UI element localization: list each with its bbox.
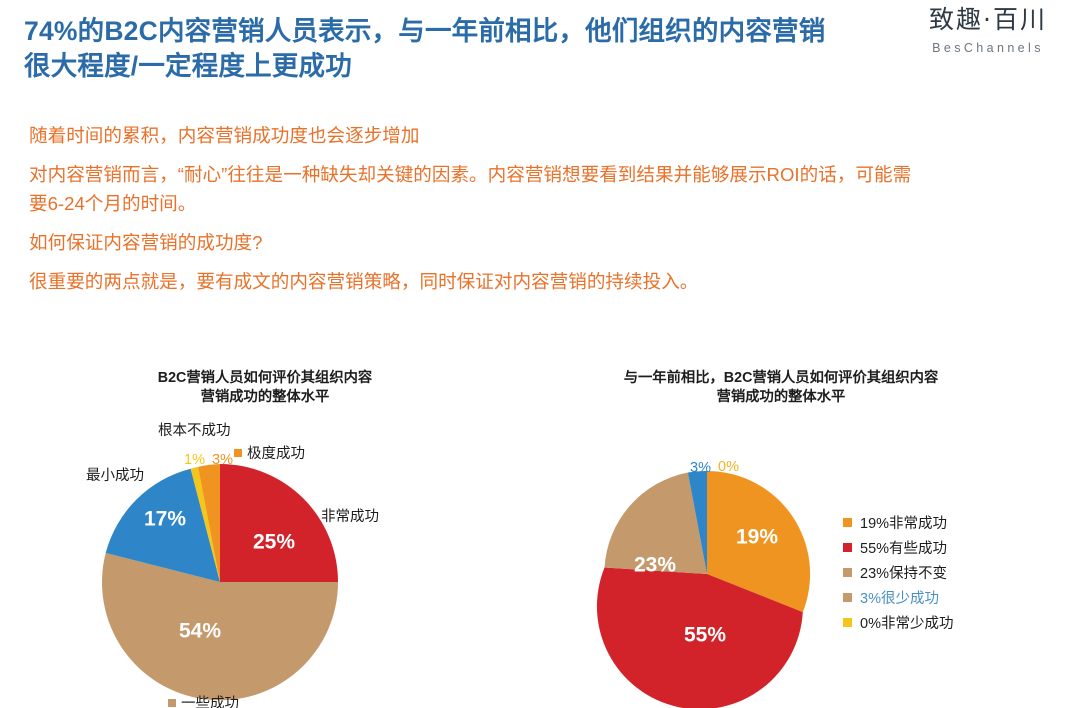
legend-swatch-stayed-same [843,568,852,577]
left-pie-small-value-1: 1% [184,452,205,468]
left-chart-title: B2C营销人员如何评价其组织内容 营销成功的整体水平 [92,369,438,408]
page-title: 74%的B2C内容营销人员表示，与一年前相比，他们组织的内容营销 很大程度/一定… [24,14,924,84]
legend-item-stayed-same[interactable]: 23%保持不变 [843,560,953,585]
legend-label-stayed-same: 23%保持不变 [860,562,947,583]
body-paragraph-2: 对内容营销而言，“耐心”往往是一种缺失却关键的因素。内容营销想要看到结果并能够展… [29,161,929,218]
brand-logo: 致趣·百川 BesChannels [904,6,1072,55]
legend-label-less-successful: 3%很少成功 [860,587,939,608]
left-pie-value-very-successful: 25% [253,531,295,554]
right-pie-small-value-2: 0% [718,459,739,475]
right-pie-value-stayed-same: 23% [634,554,676,577]
right-pie-chart: 19% 55% 23% [597,466,827,692]
body-paragraph-1: 随着时间的累积，内容营销成功度也会逐步增加 [29,122,929,150]
legend-swatch-very-successful [843,518,852,527]
left-pie-svg: 25% 54% 17% [80,462,370,708]
legend-label-somewhat-successful: 55%有些成功 [860,537,947,558]
page-title-line-2: 很大程度/一定程度上更成功 [24,49,924,84]
right-chart-title-line-1: 与一年前相比，B2C营销人员如何评价其组织内容 [566,369,996,388]
page-title-line-1: 74%的B2C内容营销人员表示，与一年前相比，他们组织的内容营销 [24,14,924,49]
legend-item-somewhat-successful[interactable]: 55%有些成功 [843,535,953,560]
left-pie-label-extremely-successful-text: 极度成功 [247,446,305,462]
left-pie-label-not-at-all-successful: 根本不成功 [158,419,231,440]
legend-swatch-much-less-successful [843,618,852,627]
brand-logo-en: BesChannels [904,41,1072,55]
body-paragraph-3: 如何保证内容营销的成功度? [29,229,929,257]
brand-logo-cn: 致趣·百川 [904,6,1072,34]
right-pie-value-very-successful: 19% [736,526,778,549]
right-chart-title-line-2: 营销成功的整体水平 [566,388,996,407]
left-chart-title-line-2: 营销成功的整体水平 [92,388,438,407]
legend-item-much-less-successful[interactable]: 0%非常少成功 [843,610,953,635]
left-chart-title-line-1: B2C营销人员如何评价其组织内容 [92,369,438,388]
left-pie-small-value-2: 3% [212,452,233,468]
left-pie-value-somewhat-successful: 54% [179,620,221,643]
slide-root: 74%的B2C内容营销人员表示，与一年前相比，他们组织的内容营销 很大程度/一定… [0,0,1080,708]
legend-item-less-successful[interactable]: 3%很少成功 [843,585,953,610]
right-pie-small-value-1: 3% [690,460,711,476]
legend-swatch-somewhat-successful [843,543,852,552]
left-legend-swatch-somewhat-successful [168,699,176,707]
legend-item-very-successful[interactable]: 19%非常成功 [843,510,953,535]
legend-label-very-successful: 19%非常成功 [860,512,947,533]
left-legend-swatch-extremely-successful [234,449,242,457]
left-pie-label-extremely-successful: 极度成功 [234,442,305,463]
right-pie-value-somewhat-successful: 55% [684,624,726,647]
body-copy: 随着时间的累积，内容营销成功度也会逐步增加 对内容营销而言，“耐心”往往是一种缺… [29,122,929,307]
left-pie-value-minimally-successful: 17% [144,508,186,531]
left-pie-label-very-successful: 非常成功 [321,505,379,526]
legend-swatch-less-successful [843,593,852,602]
right-chart-title: 与一年前相比，B2C营销人员如何评价其组织内容 营销成功的整体水平 [566,369,996,408]
body-paragraph-4: 很重要的两点就是，要有成文的内容营销策略，同时保证对内容营销的持续投入。 [29,268,929,296]
left-pie-label-somewhat-successful: 一些成功 [168,692,239,708]
right-pie-legend: 19%非常成功 55%有些成功 23%保持不变 3%很少成功 0%非常少成功 [843,510,953,635]
right-pie-svg: 19% 55% 23% [597,466,827,692]
left-pie-label-minimally-successful: 最小成功 [86,464,144,485]
left-pie-chart: 25% 54% 17% [80,462,370,708]
legend-label-much-less-successful: 0%非常少成功 [860,612,953,633]
left-pie-label-somewhat-successful-text: 一些成功 [181,696,239,708]
